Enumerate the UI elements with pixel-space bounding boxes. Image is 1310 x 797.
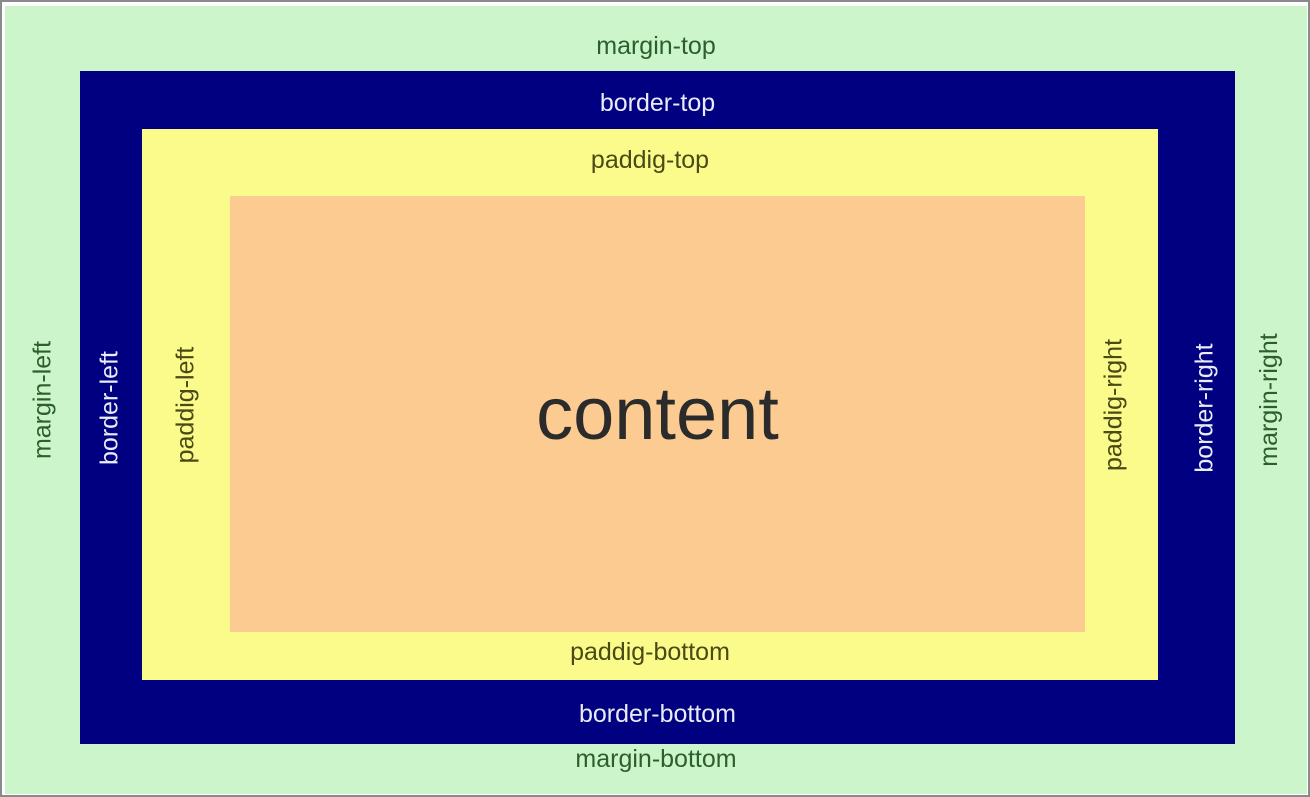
border-top-label: border-top: [80, 91, 1235, 116]
border-bottom-label: border-bottom: [80, 702, 1235, 727]
margin-right-label: margin-right: [1257, 333, 1282, 466]
border-box: border-top border-left border-right bord…: [80, 71, 1235, 744]
padding-top-label: paddig-top: [142, 148, 1158, 173]
margin-box: margin-top margin-left margin-right marg…: [5, 6, 1307, 794]
box-model-diagram: margin-top margin-left margin-right marg…: [0, 0, 1310, 797]
padding-bottom-label: paddig-bottom: [142, 640, 1158, 665]
margin-bottom-label: margin-bottom: [5, 747, 1307, 772]
border-right-label: border-right: [1193, 343, 1218, 472]
border-left-label: border-left: [98, 351, 123, 465]
padding-box: paddig-top paddig-left paddig-right padd…: [142, 129, 1158, 680]
content-box: content: [230, 196, 1085, 632]
margin-top-label: margin-top: [5, 34, 1307, 59]
content-label: content: [536, 377, 779, 451]
padding-left-label: paddig-left: [174, 346, 199, 463]
margin-left-label: margin-left: [31, 341, 56, 459]
padding-right-label: paddig-right: [1102, 338, 1127, 470]
